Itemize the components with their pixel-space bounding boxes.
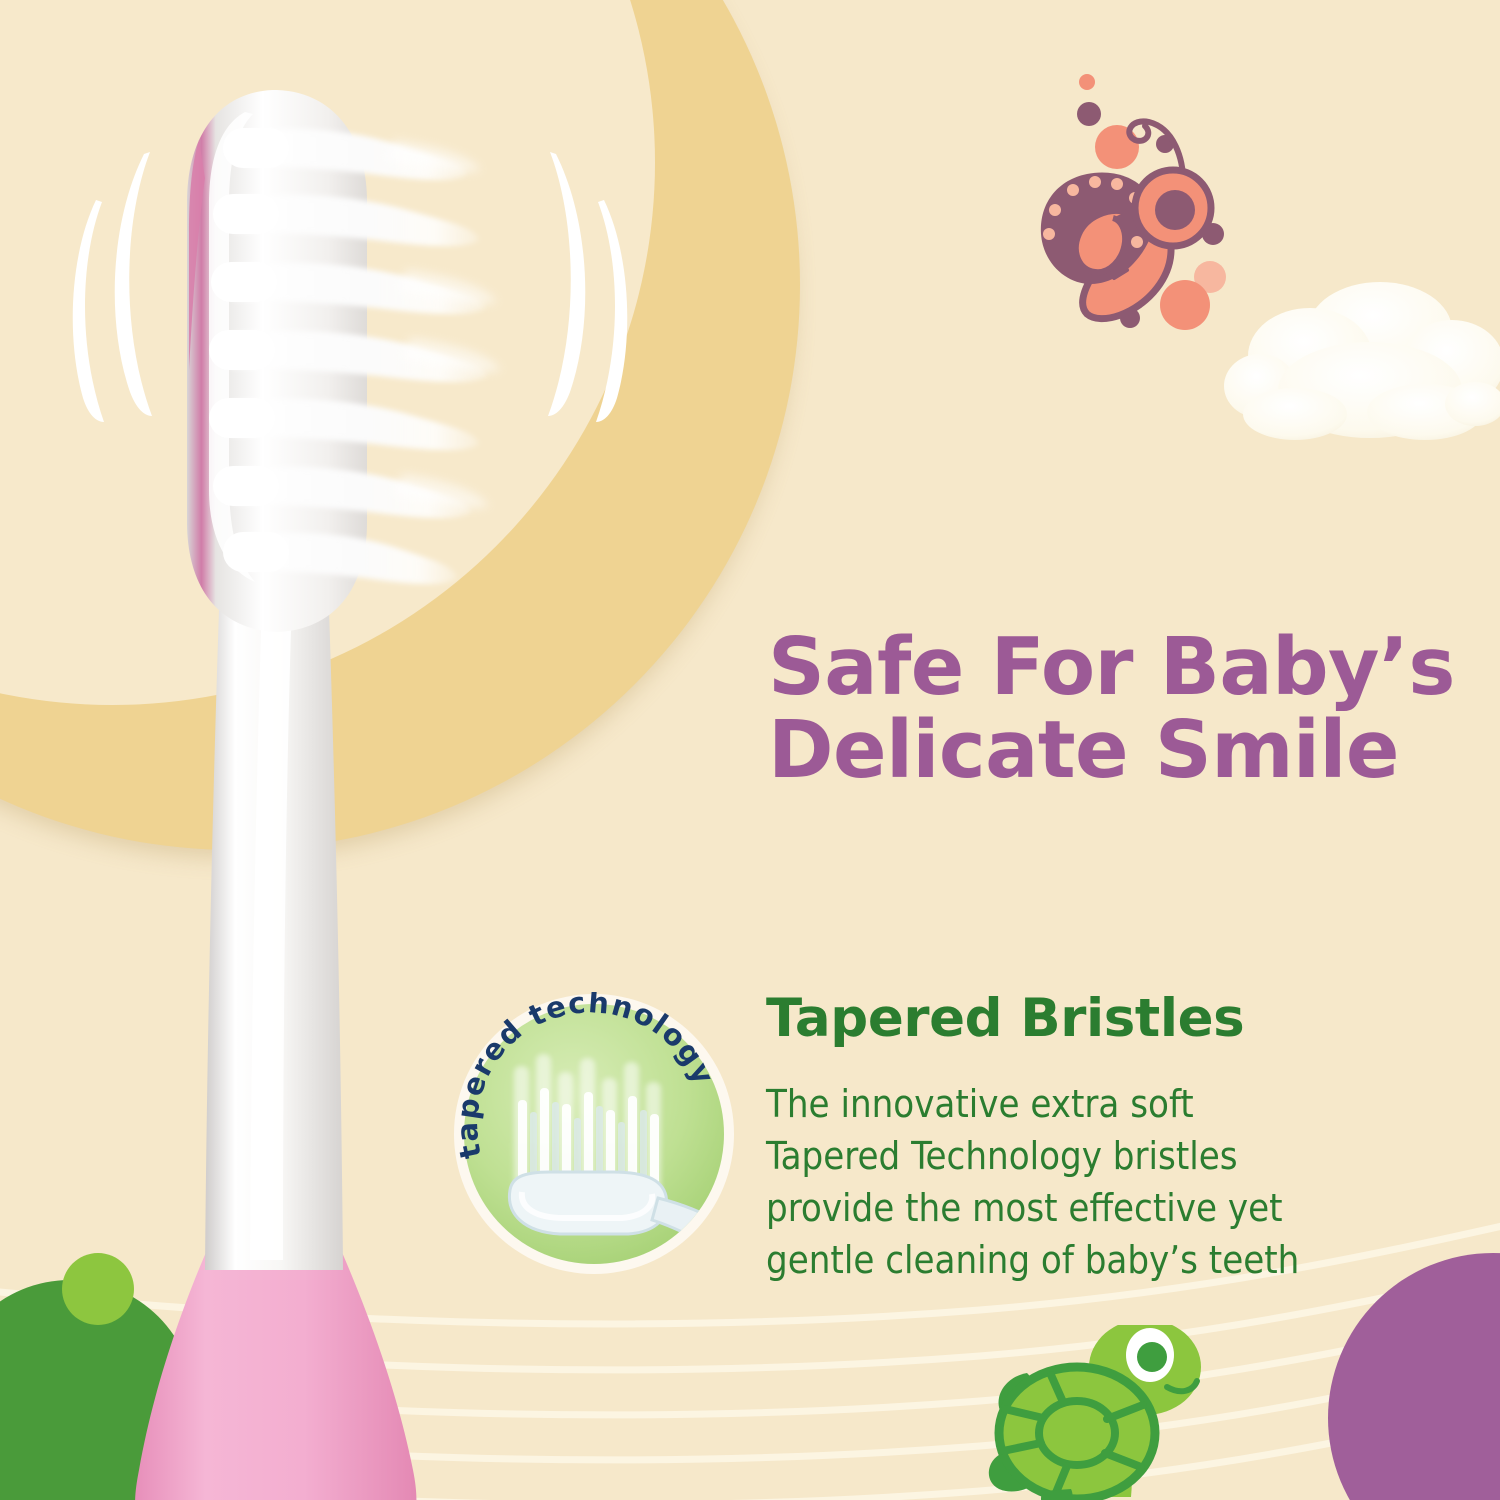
feature-line-3: provide the most effective yet [766, 1182, 1376, 1234]
tapered-technology-badge: tapered technology [452, 992, 737, 1277]
page-title: Safe For Baby’s Delicate Smile [768, 626, 1468, 792]
turtle-icon [985, 1325, 1245, 1500]
feature-line-4: gentle cleaning of baby’s teeth [766, 1234, 1376, 1286]
feature-title: Tapered Bristles [766, 988, 1244, 1049]
headline-line-2: Delicate Smile [768, 709, 1468, 792]
purple-circle-decoration [1328, 1253, 1500, 1500]
toothbrush-product-image [95, 70, 555, 1500]
butterfly-icon [1025, 62, 1290, 347]
feature-line-2: Tapered Technology bristles [766, 1130, 1376, 1182]
marketing-image-canvas: Safe For Baby’s Delicate Smile [0, 0, 1500, 1500]
feature-line-1: The innovative extra soft [766, 1078, 1376, 1130]
feature-description: The innovative extra soft Tapered Techno… [766, 1078, 1376, 1286]
headline-line-1: Safe For Baby’s [768, 626, 1468, 709]
